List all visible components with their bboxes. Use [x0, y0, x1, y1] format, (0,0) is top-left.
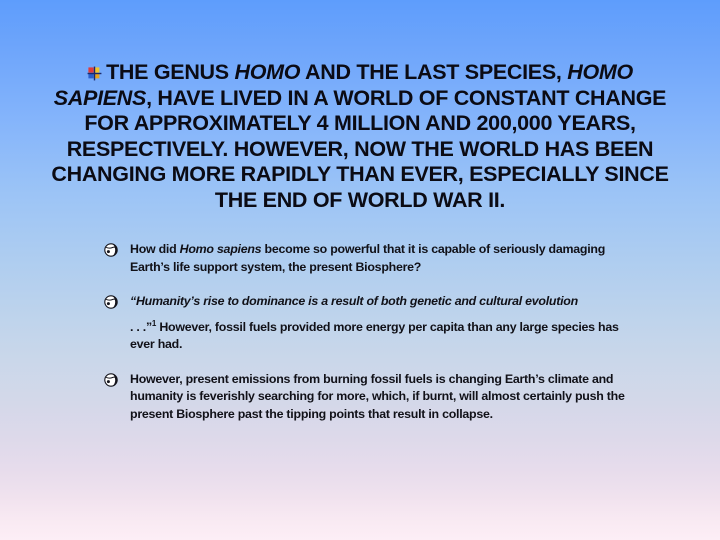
bullet-2-remainder: However, fossil fuels provided more ener… — [130, 320, 619, 352]
list-item-text: “Humanity’s rise to dominance is a resul… — [130, 293, 644, 354]
slide-body-block: How did Homo sapiens become so powerful … — [104, 241, 644, 423]
globe-icon — [104, 295, 118, 309]
bullet-2-ellipsis: . . .” — [130, 320, 152, 334]
title-segment-homo: HOMO — [234, 60, 300, 84]
slide-title-block: THE GENUS HOMO AND THE LAST SPECIES, HOM… — [36, 60, 684, 213]
bullet-2-quote: “Humanity’s rise to dominance is a resul… — [130, 294, 578, 308]
list-item-text: However, present emissions from burning … — [130, 371, 644, 424]
globe-icon — [104, 373, 118, 387]
bullet-1-part-1: How did — [130, 242, 180, 256]
bullet-1-part-italic: Homo sapiens — [180, 242, 262, 256]
list-item: However, present emissions from burning … — [104, 371, 644, 424]
list-item: “Humanity’s rise to dominance is a resul… — [104, 293, 644, 354]
globe-icon — [104, 243, 118, 257]
page-title: THE GENUS HOMO AND THE LAST SPECIES, HOM… — [36, 60, 684, 213]
presentation-slide: THE GENUS HOMO AND THE LAST SPECIES, HOM… — [0, 0, 720, 540]
bullet-3-text: However, present emissions from burning … — [130, 372, 625, 421]
list-item: How did Homo sapiens become so powerful … — [104, 241, 644, 276]
list-item-text: How did Homo sapiens become so powerful … — [130, 241, 644, 276]
title-segment-2: AND THE LAST SPECIES, — [300, 60, 567, 84]
title-segment-1: THE GENUS — [106, 60, 234, 84]
pinwheel-icon — [87, 62, 102, 77]
